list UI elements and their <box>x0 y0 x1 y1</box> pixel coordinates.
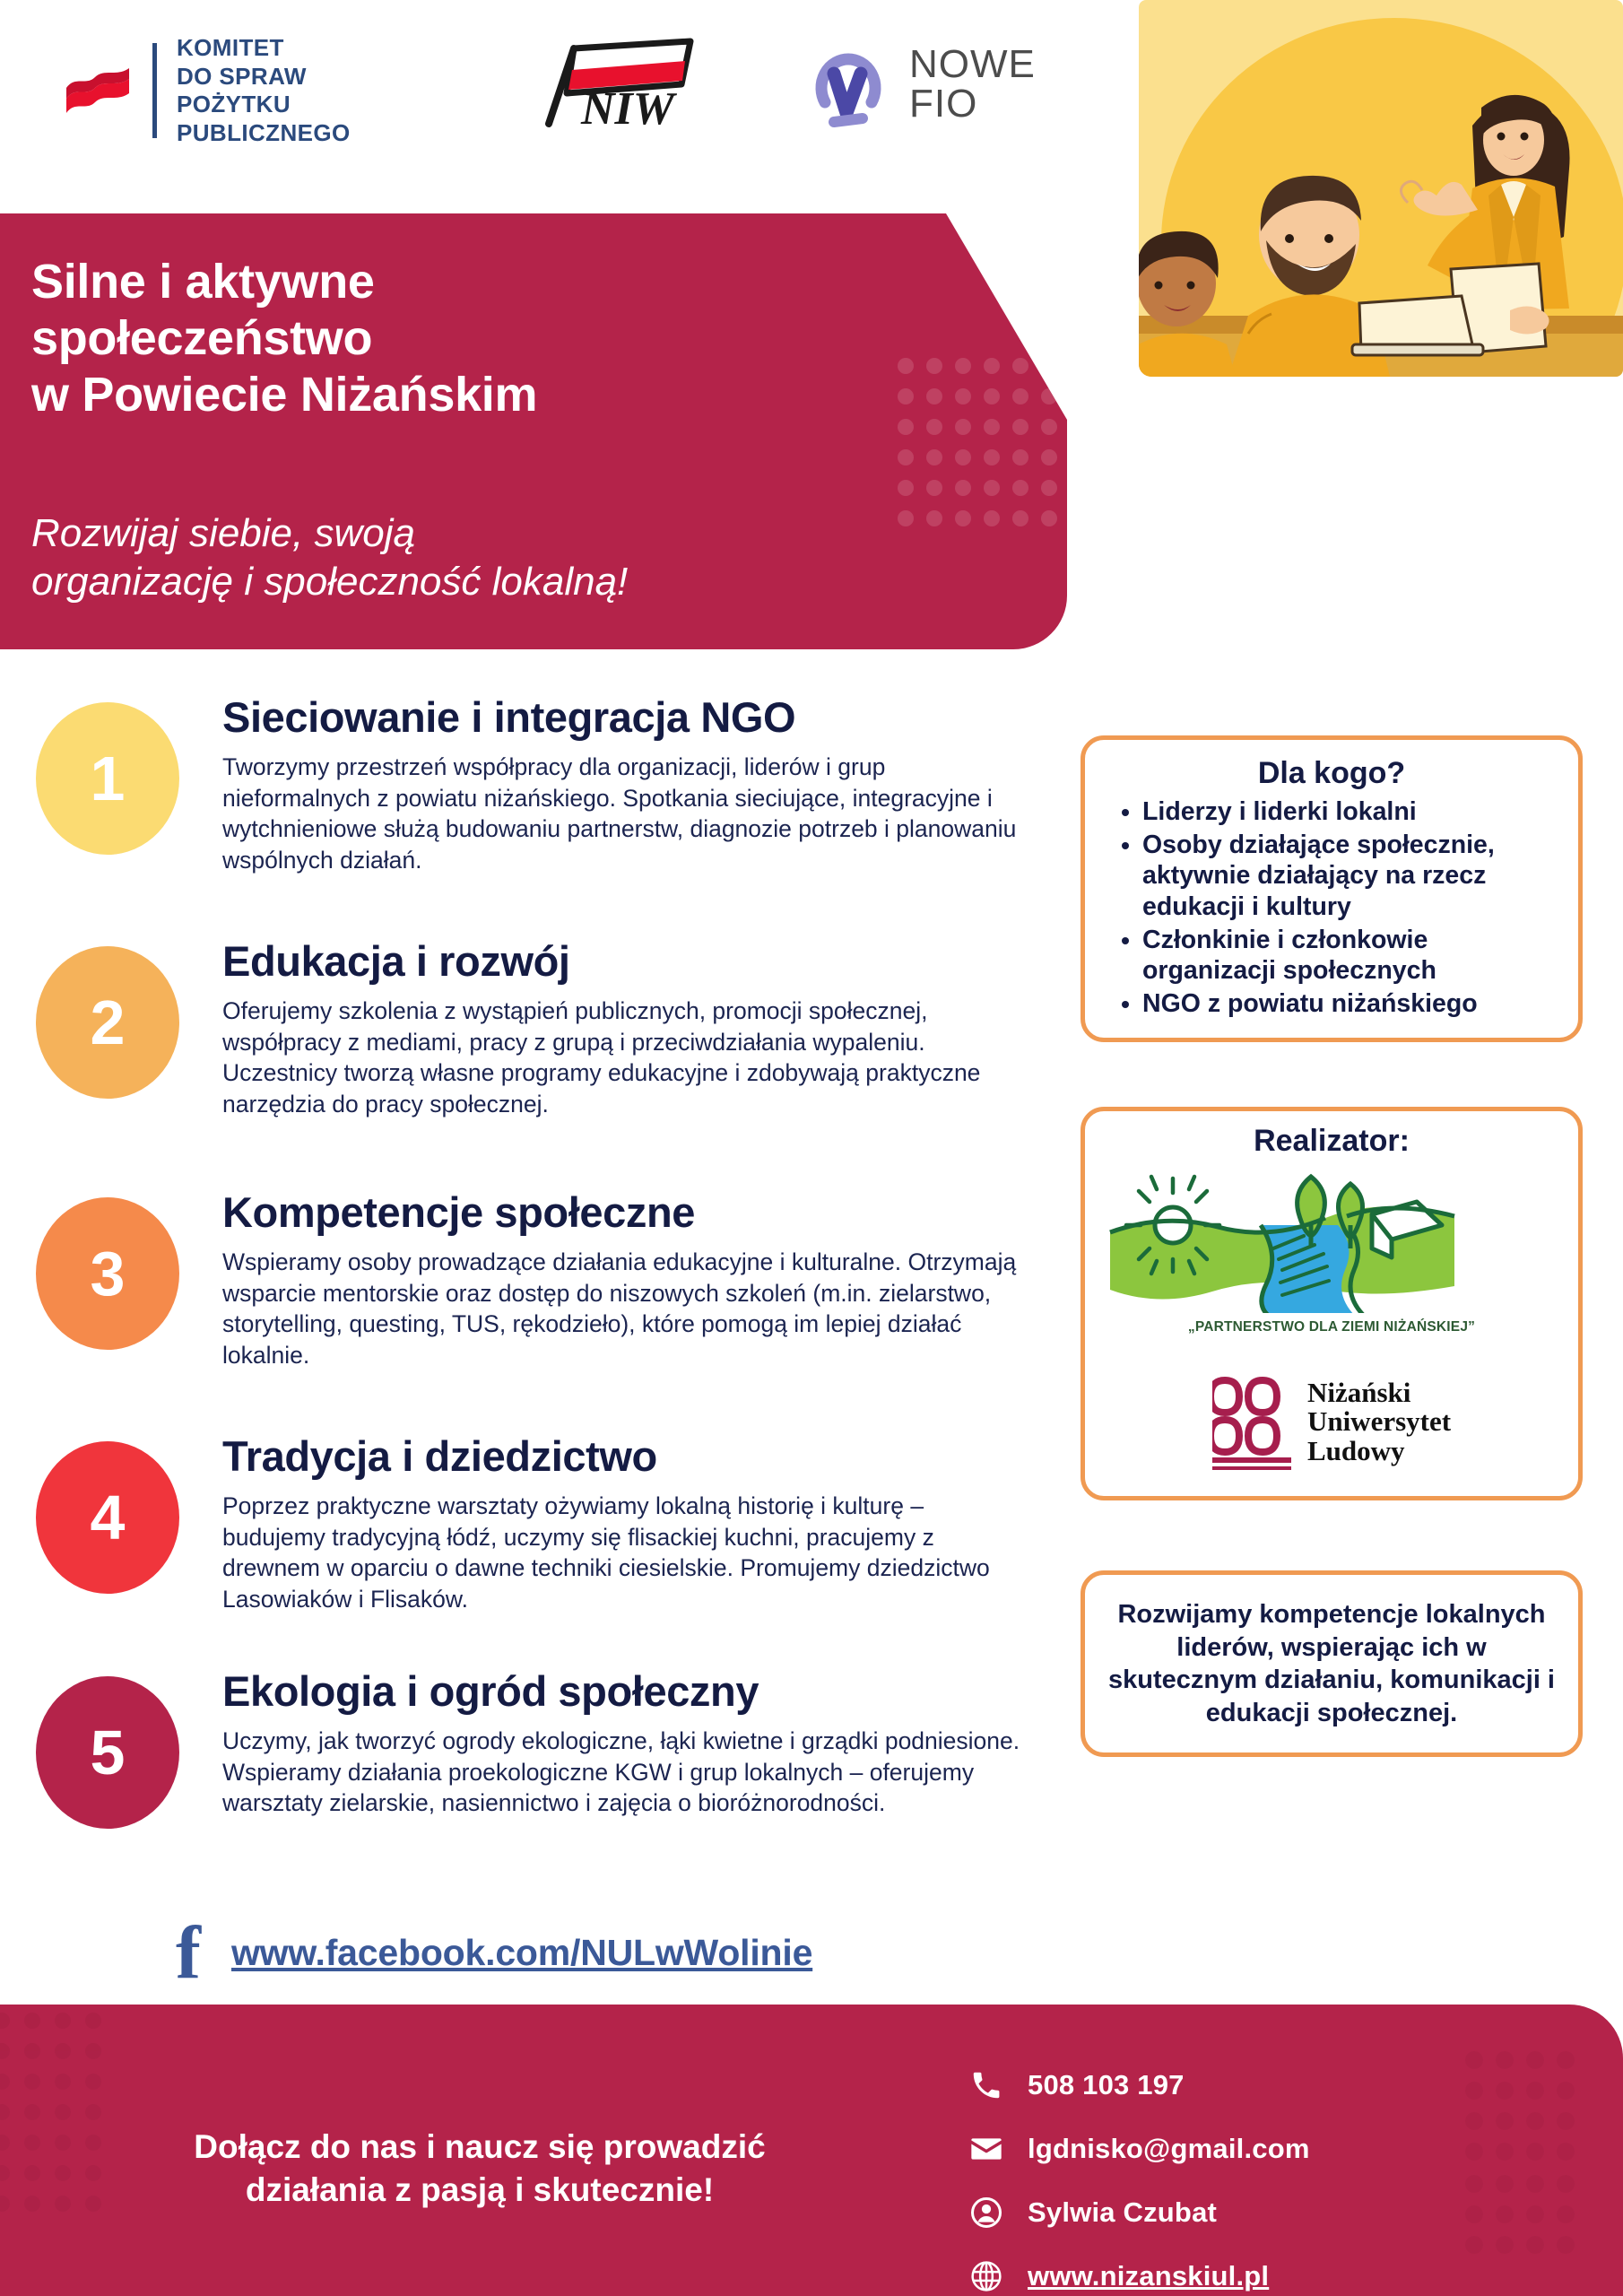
audience-bullet: NGO z powiatu niżańskiego <box>1142 988 1558 1019</box>
kds-line-3: POŻYTKU <box>177 91 291 117</box>
email-address: lgdnisko@gmail.com <box>1028 2133 1310 2165</box>
logo-niw: NIW <box>538 34 699 133</box>
kds-line-4: PUBLICZNEGO <box>177 119 351 146</box>
logo-nizanski-uniwersytet-ludowy: Niżański Uniwersytet Ludowy <box>1103 1368 1560 1476</box>
nul-logo-text: Niżański Uniwersytet Ludowy <box>1307 1378 1451 1467</box>
facebook-icon[interactable]: f <box>176 1919 201 1987</box>
program-item: 1 Sieciowanie i integracja NGO Tworzymy … <box>36 695 1031 939</box>
program-item: 3 Kompetencje społeczne Wspieramy osoby … <box>36 1190 1031 1434</box>
banner-dot-pattern <box>897 357 1058 550</box>
item-description: Wspieramy osoby prowadzące działania edu… <box>222 1247 1022 1370</box>
program-item: 5 Ekologia i ogród społeczny Uczymy, jak… <box>36 1669 1031 1893</box>
item-number-badge: 4 <box>36 1441 179 1594</box>
envelope-icon <box>968 2131 1004 2167</box>
program-items-list: 1 Sieciowanie i integracja NGO Tworzymy … <box>36 695 1031 1893</box>
title-line-1: Silne i aktywne <box>31 255 375 309</box>
nul-line-1: Niżański <box>1307 1377 1410 1408</box>
program-item: 4 Tradycja i dziedzictwo Poprzez praktyc… <box>36 1434 1031 1669</box>
sidebar: Dla kogo? Liderzy i liderki lokalni Osob… <box>1081 735 1583 1757</box>
subtitle-line-2: organizację i społeczność lokalną! <box>31 560 628 604</box>
header-logo-bar: KOMITET DO SPRAW POŻYTKU PUBLICZNEGO NIW <box>0 0 1139 215</box>
footer-dot-pattern-left <box>0 2010 126 2239</box>
audience-bullet-list: Liderzy i liderki lokalni Osoby działają… <box>1105 796 1558 1019</box>
motto-text: Rozwijamy kompetencje lokalnych liderów,… <box>1108 1598 1555 1729</box>
item-description: Tworzymy przestrzeń współpracy dla organ… <box>222 752 1022 875</box>
page-subtitle: Rozwijaj siebie, swoją organizację i spo… <box>31 509 838 605</box>
subtitle-line-1: Rozwijaj siebie, swoją <box>31 511 415 555</box>
cta-line-1: Dołącz do nas i naucz się prowadzić <box>194 2128 765 2165</box>
contact-list: 508 103 197 lgdnisko@gmail.com <box>968 2058 1310 2296</box>
item-description: Poprzez praktyczne warsztaty ożywiamy lo… <box>222 1491 1022 1614</box>
logo-nowe-fio: NOWE FIO <box>807 34 1036 134</box>
program-item: 2 Edukacja i rozwój Oferujemy szkolenia … <box>36 939 1031 1190</box>
contact-row-phone: 508 103 197 <box>968 2058 1310 2112</box>
fio-line-1: NOWE <box>909 42 1036 86</box>
globe-icon <box>968 2258 1004 2294</box>
item-number: 2 <box>91 987 126 1058</box>
fio-line-2: FIO <box>909 82 977 126</box>
item-description: Oferujemy szkolenia z wystąpień publiczn… <box>222 996 1022 1119</box>
title-line-3: w Powiecie Niżańskim <box>31 368 537 422</box>
item-description: Uczymy, jak tworzyć ogrody ekologiczne, … <box>222 1726 1022 1818</box>
item-title: Ekologia i ogród społeczny <box>222 1669 1022 1713</box>
item-number-badge: 1 <box>36 702 179 855</box>
item-number-badge: 5 <box>36 1676 179 1829</box>
phone-number: 508 103 197 <box>1028 2069 1185 2101</box>
item-number: 3 <box>91 1238 126 1309</box>
nul-line-2: Uniwersytet <box>1307 1405 1451 1437</box>
nul-emblem-icon <box>1212 1368 1291 1476</box>
title-line-2: społeczeństwo <box>31 311 372 365</box>
kds-line-2: DO SPRAW <box>177 63 307 90</box>
item-number: 4 <box>91 1482 126 1553</box>
kds-line-1: KOMITET <box>177 34 284 61</box>
footer: Dołącz do nas i naucz się prowadzić dzia… <box>0 2005 1623 2296</box>
svg-text:NIW: NIW <box>580 83 678 133</box>
person-circle-icon <box>968 2195 1004 2231</box>
polish-flag-wave-icon <box>63 63 133 118</box>
poster-root: KOMITET DO SPRAW POŻYTKU PUBLICZNEGO NIW <box>0 0 1623 2296</box>
nul-line-3: Ludowy <box>1307 1435 1405 1466</box>
item-number: 5 <box>91 1717 126 1788</box>
page-title: Silne i aktywne społeczeństwo w Powiecie… <box>31 254 803 424</box>
facebook-link-row[interactable]: f www.facebook.com/NULwWolinie <box>176 1919 812 1987</box>
item-number-badge: 3 <box>36 1197 179 1350</box>
item-title: Edukacja i rozwój <box>222 939 1022 983</box>
item-body: Sieciowanie i integracja NGO Tworzymy pr… <box>222 695 1031 875</box>
hero-illustration-people-meeting <box>1139 0 1623 377</box>
item-body: Ekologia i ogród społeczny Uczymy, jak t… <box>222 1669 1031 1819</box>
item-title: Sieciowanie i integracja NGO <box>222 695 1022 739</box>
phone-icon <box>968 2067 1004 2103</box>
contact-person-name: Sylwia Czubat <box>1028 2196 1217 2229</box>
partnership-caption: „PARTNERSTWO DLA ZIEMI NIŻAŃSKIEJ” <box>1103 1319 1560 1335</box>
audience-card: Dla kogo? Liderzy i liderki lokalni Osob… <box>1081 735 1583 1042</box>
kds-logo-text: KOMITET DO SPRAW POŻYTKU PUBLICZNEGO <box>177 34 351 148</box>
item-body: Tradycja i dziedzictwo Poprzez praktyczn… <box>222 1434 1031 1614</box>
footer-call-to-action: Dołącz do nas i naucz się prowadzić dzia… <box>126 2126 834 2212</box>
nowe-fio-text: NOWE FIO <box>909 45 1036 124</box>
logo-partnerstwo-dla-ziemi-nizanskiej <box>1103 1170 1560 1318</box>
website-url[interactable]: www.nizanskiul.pl <box>1028 2260 1269 2292</box>
audience-bullet: Liderzy i liderki lokalni <box>1142 796 1558 827</box>
contact-row-person: Sylwia Czubat <box>968 2186 1310 2239</box>
logo-divider <box>152 43 157 138</box>
motto-card: Rozwijamy kompetencje lokalnych liderów,… <box>1081 1570 1583 1757</box>
contact-row-website[interactable]: www.nizanskiul.pl <box>968 2249 1310 2296</box>
audience-bullet: Osoby działające społecznie, aktywnie dz… <box>1142 830 1558 922</box>
item-number: 1 <box>91 743 126 814</box>
title-banner: Silne i aktywne społeczeństwo w Powiecie… <box>0 213 1067 649</box>
cta-line-2: działania z pasją i skutecznie! <box>246 2171 714 2208</box>
logo-komitet-do-spraw-pozytku-publicznego: KOMITET DO SPRAW POŻYTKU PUBLICZNEGO <box>63 34 351 148</box>
contact-row-email: lgdnisko@gmail.com <box>968 2122 1310 2176</box>
footer-dot-pattern-right <box>1463 2049 1580 2278</box>
item-body: Kompetencje społeczne Wspieramy osoby pr… <box>222 1190 1031 1370</box>
item-title: Tradycja i dziedzictwo <box>222 1434 1022 1478</box>
realizator-card: Realizator: <box>1081 1107 1583 1500</box>
realizator-heading: Realizator: <box>1103 1124 1560 1159</box>
nowe-fio-bulb-icon <box>807 34 890 134</box>
item-body: Edukacja i rozwój Oferujemy szkolenia z … <box>222 939 1031 1119</box>
audience-bullet: Członkinie i członkowie organizacji społ… <box>1142 925 1558 986</box>
item-number-badge: 2 <box>36 946 179 1099</box>
facebook-url[interactable]: www.facebook.com/NULwWolinie <box>231 1932 812 1974</box>
audience-heading: Dla kogo? <box>1105 756 1558 791</box>
item-title: Kompetencje społeczne <box>222 1190 1022 1234</box>
